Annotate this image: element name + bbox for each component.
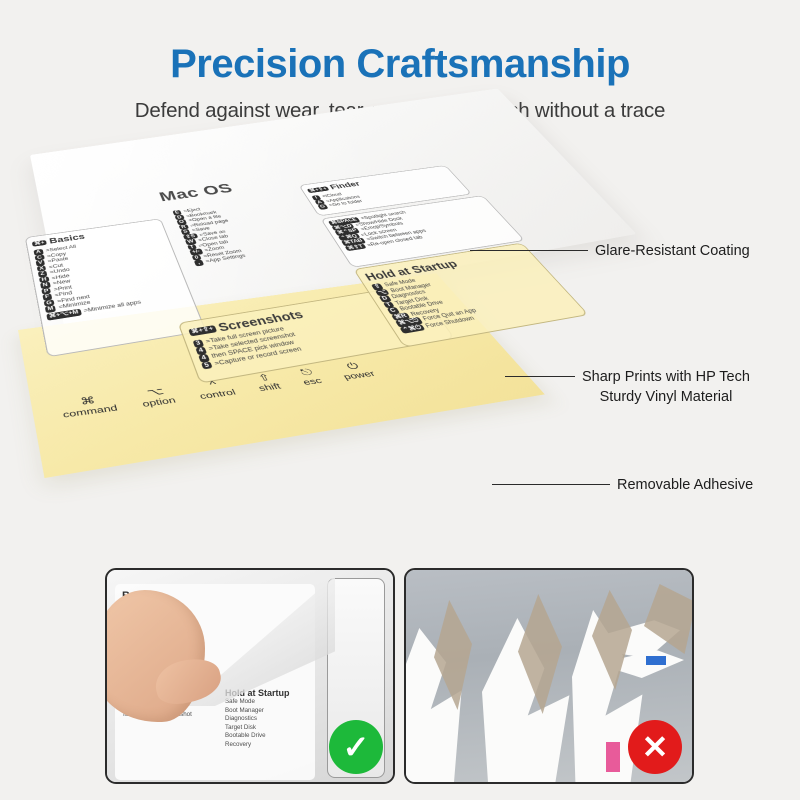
- photo-clean-removal: Basics =Reset Zoom =App Settings =Minimi…: [105, 568, 395, 784]
- legend-label: shift: [257, 382, 283, 393]
- check-icon: ✓: [343, 731, 370, 763]
- sticker-line: Safe Mode: [225, 698, 317, 705]
- leader-line: [505, 376, 575, 377]
- key-cap: ⌘+: [32, 240, 47, 247]
- startup-block-in-photo: Hold at Startup Safe Mode Boot Manager D…: [225, 688, 317, 749]
- key-cap: ⌘⇧T: [344, 243, 366, 251]
- callout-label: Glare-Resistant Coating: [595, 242, 750, 262]
- photo-torn-residue: ✕: [404, 568, 694, 784]
- sticker-line: Recovery: [225, 741, 317, 748]
- callout-glare-resistant-coating: Glare-Resistant Coating: [470, 242, 750, 262]
- legend-item-power: ⏻ power: [335, 360, 377, 381]
- sticker-line: Boot Manager: [225, 707, 317, 714]
- leader-line: [470, 250, 588, 251]
- comparison-photos: Basics =Reset Zoom =App Settings =Minimi…: [0, 560, 800, 800]
- sticker-line: Diagnostics: [225, 715, 317, 722]
- status-badge-good: ✓: [329, 720, 383, 774]
- legend-item-esc: ⎋ esc: [295, 367, 323, 387]
- callout-label: Sharp Prints with HP Tech: [582, 368, 750, 388]
- key-cap: ⌘+⇧+: [188, 325, 217, 336]
- key-cap: ,: [194, 260, 204, 267]
- status-badge-bad: ✕: [628, 720, 682, 774]
- callout-label: Removable Adhesive: [617, 476, 753, 496]
- hand: [105, 590, 205, 722]
- legend-item-control: ^ control: [194, 378, 237, 401]
- callout-label-second-line: Sturdy Vinyl Material: [582, 388, 750, 408]
- legend-item-shift: ⇧ shift: [252, 372, 283, 393]
- pink-paper-fragment: [606, 742, 620, 772]
- hero-product-illustration: Mac OS ⌘+ Basics A=Select All C=Copy V=P…: [0, 145, 800, 560]
- cross-icon: ✕: [642, 731, 669, 763]
- sticker-line: Target Disk: [225, 724, 317, 731]
- callout-removable-adhesive: Removable Adhesive: [492, 476, 753, 496]
- callout-sharp-prints: Sharp Prints with HP Tech Sturdy Vinyl M…: [505, 368, 750, 407]
- page-title: Precision Craftsmanship: [0, 0, 800, 86]
- legend-label: esc: [301, 376, 324, 386]
- key-cap: ⌘+⇧+: [307, 186, 330, 193]
- key-cap: G: [317, 204, 328, 210]
- blue-paper-fragment: [646, 656, 666, 665]
- sticker-line: Bootable Drive: [225, 732, 317, 739]
- leader-line: [492, 484, 610, 485]
- legend-item-option: ⌥ option: [138, 386, 177, 409]
- key-cap: 5: [201, 361, 213, 370]
